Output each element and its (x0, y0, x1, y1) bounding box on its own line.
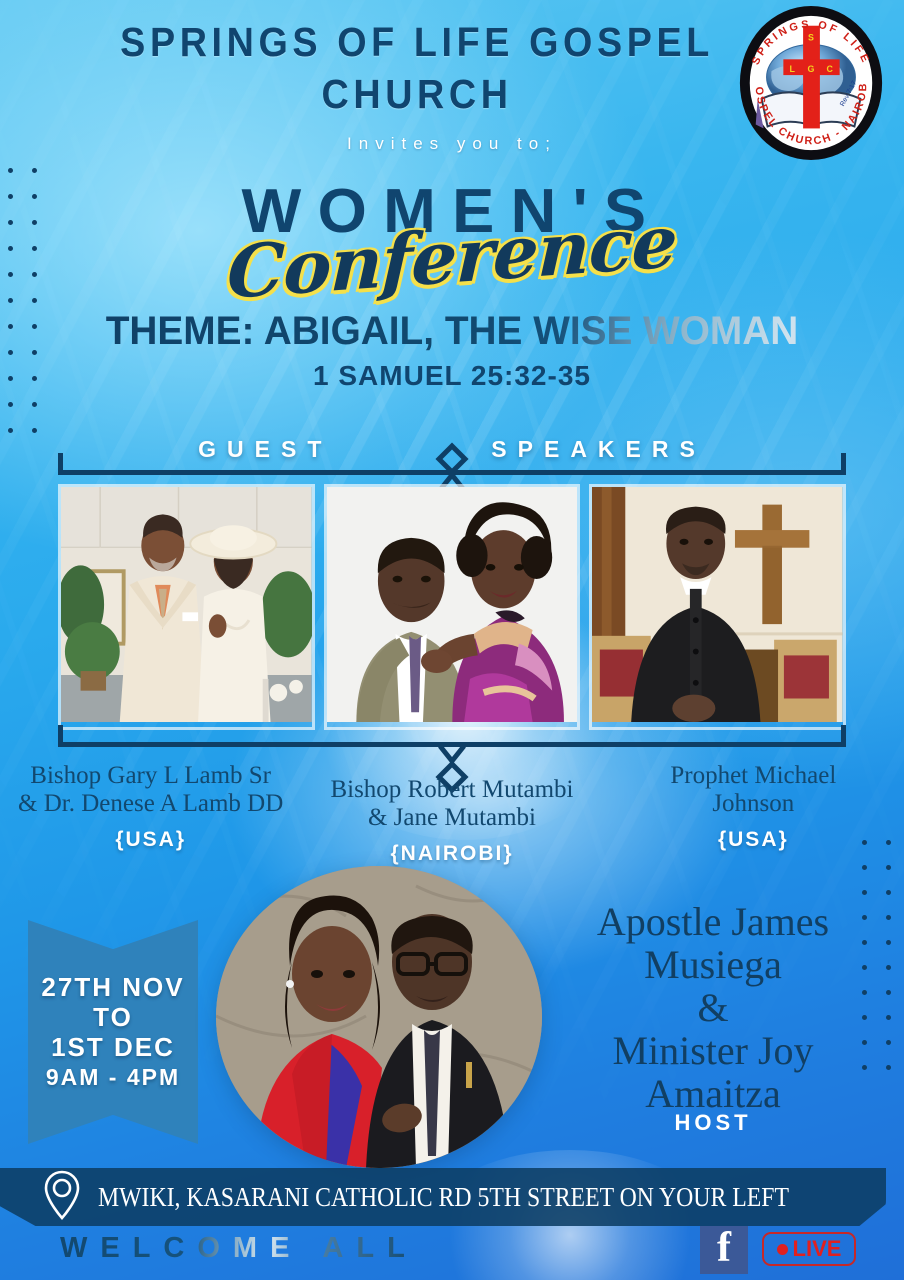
date-line-3: 1ST DEC (41, 1032, 184, 1062)
host-name-ampersand: & (548, 986, 878, 1029)
welcome-text: WELCOME ALL (60, 1232, 418, 1265)
speaker-photo-row (58, 484, 846, 730)
speaker-location: {USA} (0, 828, 301, 852)
date-ribbon: 27TH NOV TO 1ST DEC 9AM - 4PM (28, 920, 198, 1144)
host-names: Apostle James Musiega & Minister Joy Ama… (548, 900, 878, 1115)
speaker-name-block-3: Prophet Michael Johnson {USA} (603, 762, 904, 866)
facebook-icon[interactable]: f (700, 1226, 748, 1274)
church-logo-icon: S L G C Rev 7:17 SPRINGS OF LIFE GOSPEL … (732, 4, 890, 162)
date-ribbon-text: 27TH NOV TO 1ST DEC 9AM - 4PM (41, 972, 184, 1092)
dot-grid-left (8, 168, 42, 458)
theme-text: THEME: ABIGAIL, THE WISE WOMAN (14, 309, 891, 354)
speaker-name-line2: & Jane Mutambi (301, 804, 602, 832)
speaker-name-line1: Bishop Gary L Lamb Sr (0, 762, 301, 790)
host-label: HOST (548, 1110, 878, 1136)
guest-label: GUEST (198, 436, 332, 463)
svg-text:S: S (808, 33, 814, 43)
date-line-2: TO (41, 1002, 184, 1032)
live-dot-icon (777, 1244, 788, 1255)
poster-root: SPRINGS OF LIFE GOSPEL CHURCH Invites yo… (0, 0, 904, 1280)
date-line-4: 9AM - 4PM (41, 1062, 184, 1092)
host-name-line1: Apostle James (548, 900, 878, 943)
speaker-name-line2: Johnson (603, 790, 904, 818)
speaker-name-line2: & Dr. Denese A Lamb DD (0, 790, 301, 818)
speaker-name-block-1: Bishop Gary L Lamb Sr & Dr. Denese A Lam… (0, 762, 301, 866)
svg-text:L: L (790, 64, 796, 74)
speaker-location: {NAIROBI} (301, 842, 602, 866)
speaker-name-line1: Prophet Michael (603, 762, 904, 790)
live-label: LIVE (793, 1236, 842, 1262)
speaker-name-block-2: Bishop Robert Mutambi & Jane Mutambi {NA… (301, 762, 602, 866)
speaker-name-line1: Bishop Robert Mutambi (301, 776, 602, 804)
svg-text:G: G (808, 64, 815, 74)
church-logo: S L G C Rev 7:17 SPRINGS OF LIFE GOSPEL … (732, 4, 890, 162)
host-name-line2: Musiega (548, 943, 878, 986)
live-badge[interactable]: LIVE (762, 1232, 856, 1266)
facebook-glyph: f (700, 1226, 748, 1270)
location-pin-icon (44, 1169, 80, 1226)
address-text: MWIKI, KASARANI CATHOLIC RD 5TH STREET O… (98, 1182, 789, 1213)
address-bar: MWIKI, KASARANI CATHOLIC RD 5TH STREET O… (0, 1168, 886, 1226)
svg-text:C: C (827, 64, 834, 74)
speaker-names-row: Bishop Gary L Lamb Sr & Dr. Denese A Lam… (0, 762, 904, 866)
date-line-1: 27TH NOV (41, 972, 184, 1002)
host-name-line5: Amaitza (548, 1072, 878, 1115)
host-photo (216, 866, 542, 1168)
speakers-label: SPEAKERS (491, 436, 706, 463)
speaker-photo-3 (589, 484, 846, 730)
speaker-location: {USA} (603, 828, 904, 852)
scripture-verse: 1 SAMUEL 25:32-35 (0, 360, 904, 392)
speaker-photo-2 (324, 484, 581, 730)
speaker-photo-1 (58, 484, 315, 730)
host-name-line4: Minister Joy (548, 1029, 878, 1072)
